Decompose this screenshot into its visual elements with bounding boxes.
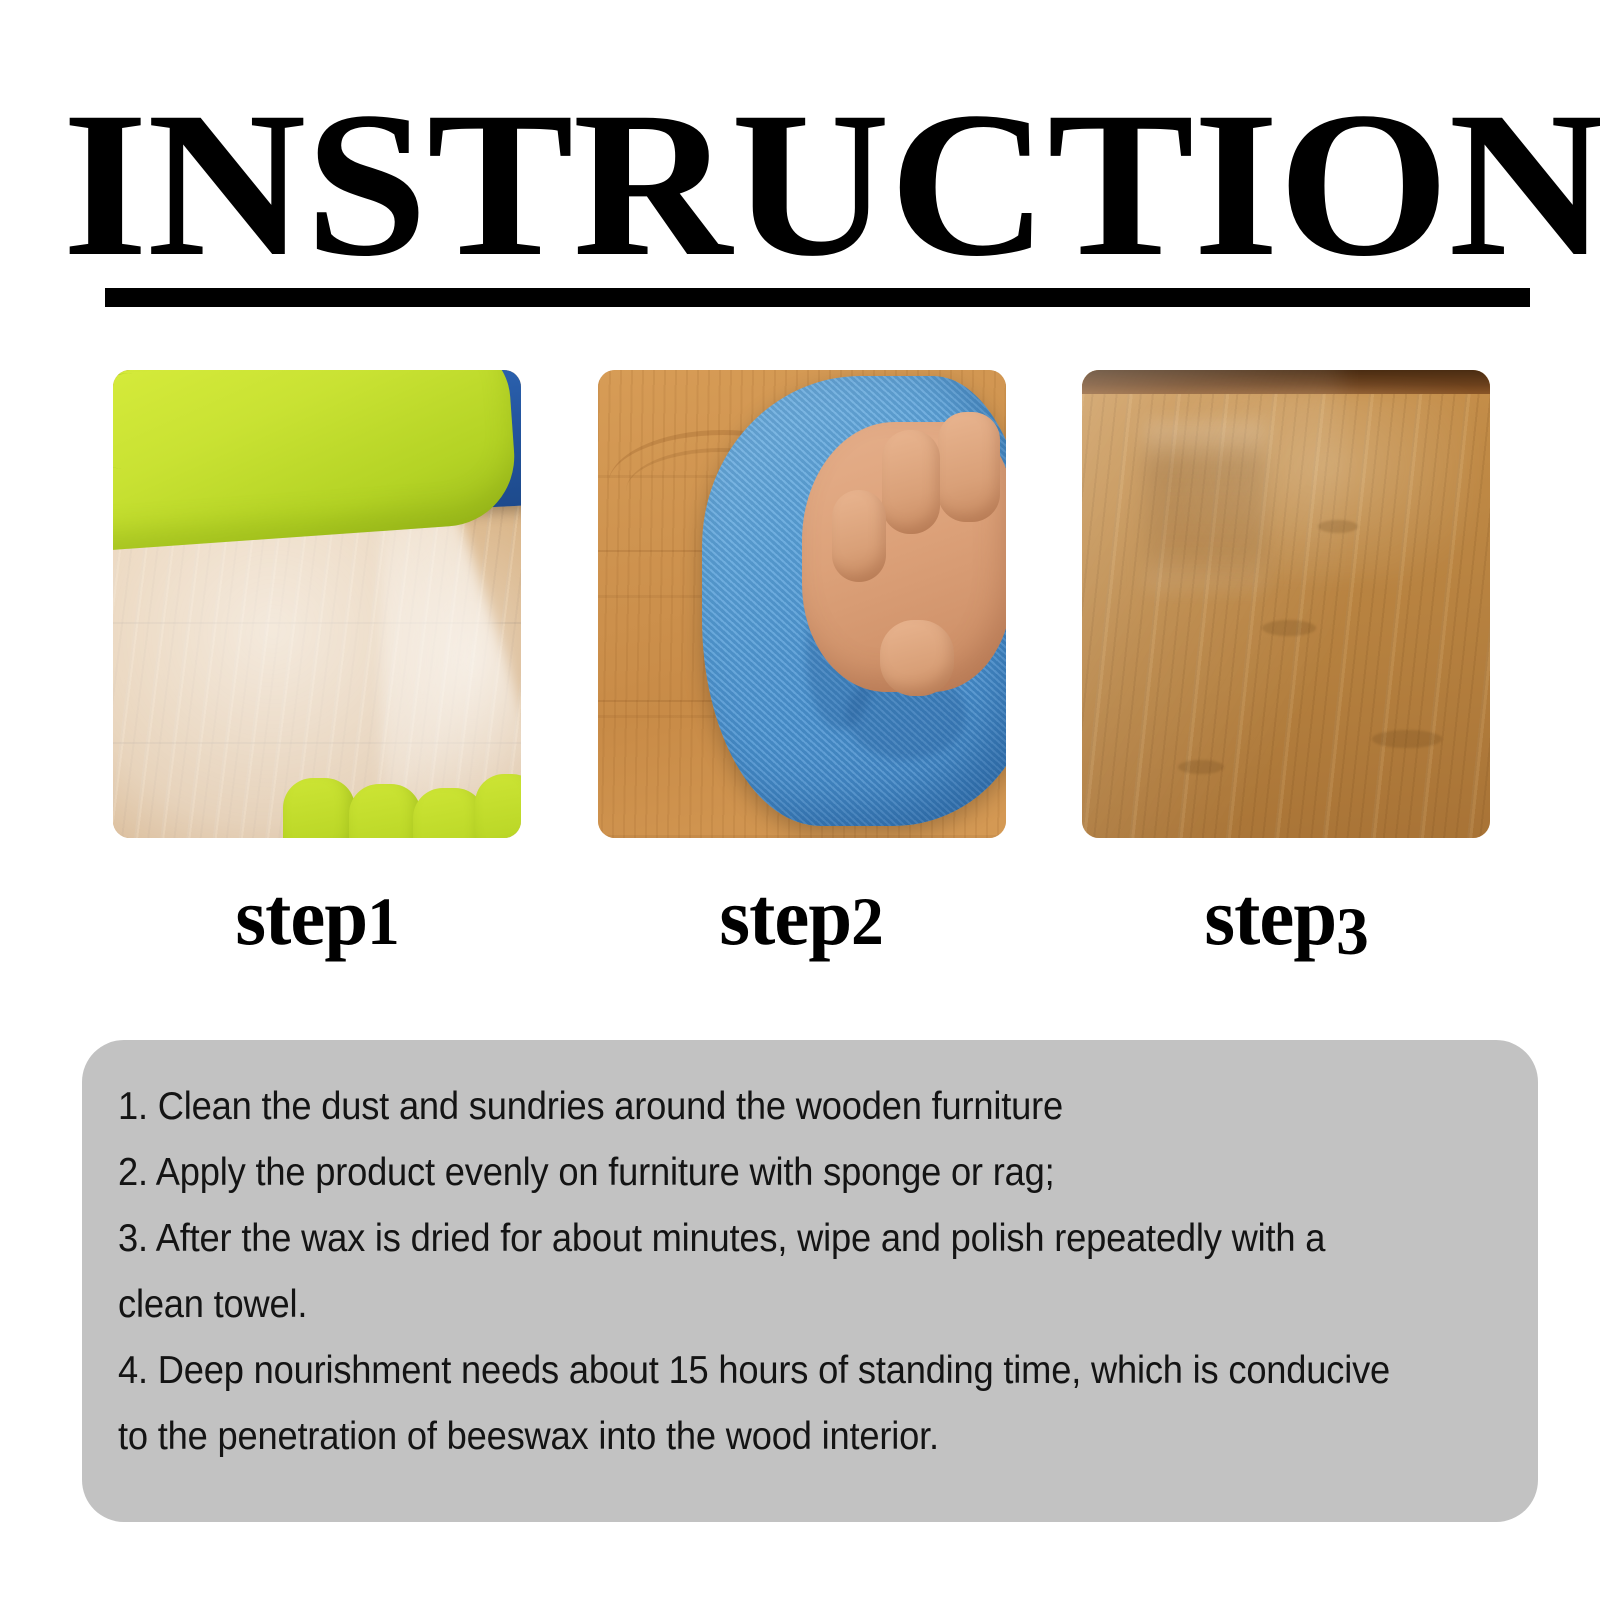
step-3-label-word: step [1204, 871, 1336, 962]
step-1-photo [113, 370, 521, 838]
thumb-icon [880, 620, 954, 696]
wood-knot [1178, 760, 1224, 774]
instruction-line: 3. After the wax is dried for about minu… [118, 1206, 1407, 1338]
instruction-line: 4. Deep nourishment needs about 15 hours… [118, 1338, 1407, 1470]
finger-icon [938, 412, 1000, 522]
step-3-label-number: 3 [1336, 893, 1368, 969]
finger-icon [882, 430, 940, 534]
gloss-sheen-icon [1182, 390, 1472, 580]
step-2-label: step2 [720, 874, 883, 964]
step-1-label: step1 [235, 874, 398, 964]
glove-finger-icon [475, 774, 521, 838]
instruction-line: 2. Apply the product evenly on furniture… [118, 1140, 1407, 1206]
step-card-1: step1 [113, 370, 521, 970]
yellow-green-glove-icon [113, 370, 519, 552]
glove-finger-icon [349, 784, 421, 838]
step-1-label-word: step [235, 871, 367, 962]
step-2-label-number: 2 [852, 883, 884, 959]
header: INSTRUCTIONS [105, 92, 1530, 312]
glove-cuff-crease [113, 370, 204, 477]
wood-knot [1262, 620, 1316, 636]
step-2-photo [598, 370, 1006, 838]
step-3-label: step3 [1204, 874, 1367, 964]
step-3-photo [1082, 370, 1490, 838]
step-1-label-number: 1 [367, 883, 399, 959]
wood-knot [1372, 730, 1442, 748]
step-2-label-word: step [720, 871, 852, 962]
instructions-list: 1. Clean the dust and sundries around th… [118, 1074, 1504, 1470]
wood-knot [1318, 520, 1358, 533]
instructions-panel: 1. Clean the dust and sundries around th… [82, 1040, 1538, 1522]
page-title: INSTRUCTIONS [62, 92, 1573, 277]
instructions-page: INSTRUCTIONS step [0, 0, 1600, 1600]
finger-icon [832, 490, 886, 582]
title-underline-rule [105, 288, 1530, 307]
step-card-3: step3 [1082, 370, 1490, 970]
instruction-line: 1. Clean the dust and sundries around th… [118, 1074, 1407, 1140]
step-card-2: step2 [598, 370, 1006, 970]
glove-finger-icon [283, 778, 355, 838]
steps-row: step1 step2 [113, 370, 1490, 970]
